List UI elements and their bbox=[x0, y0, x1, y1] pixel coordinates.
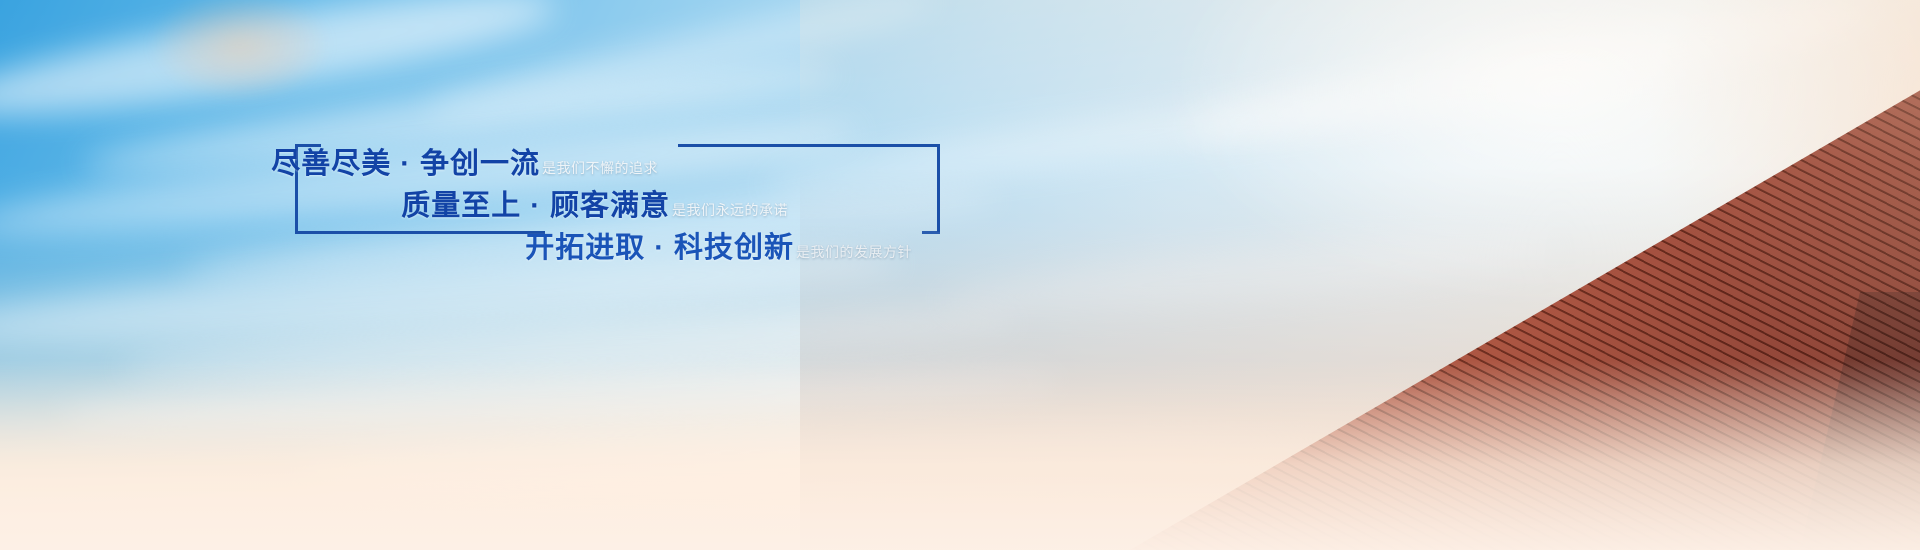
slogan-block: 尽善尽美 · 争创一流 是我们不懈的追求 质量至上 · 顾客满意 是我们永远的承… bbox=[295, 138, 940, 238]
ground-haze bbox=[0, 360, 1920, 550]
slogan-headline-3: 开拓进取 · 科技创新 bbox=[525, 224, 794, 266]
slogan-subtext-3: 是我们的发展方针 bbox=[796, 242, 912, 262]
slogan-headline-2: 质量至上 · 顾客满意 bbox=[401, 182, 670, 224]
slogan-line-1: 尽善尽美 · 争创一流 是我们不懈的追求 bbox=[295, 140, 940, 182]
slogan-subtext-1: 是我们不懈的追求 bbox=[542, 158, 658, 178]
slogan-line-3: 开拓进取 · 科技创新 是我们的发展方针 bbox=[295, 224, 940, 266]
slogan-subtext-2: 是我们永远的承诺 bbox=[672, 200, 788, 220]
slogan-lines: 尽善尽美 · 争创一流 是我们不懈的追求 质量至上 · 顾客满意 是我们永远的承… bbox=[295, 138, 940, 238]
slogan-line-2: 质量至上 · 顾客满意 是我们永远的承诺 bbox=[295, 182, 940, 224]
slogan-headline-1: 尽善尽美 · 争创一流 bbox=[271, 140, 540, 182]
hero-banner: 尽善尽美 · 争创一流 是我们不懈的追求 质量至上 · 顾客满意 是我们永远的承… bbox=[0, 0, 1920, 550]
